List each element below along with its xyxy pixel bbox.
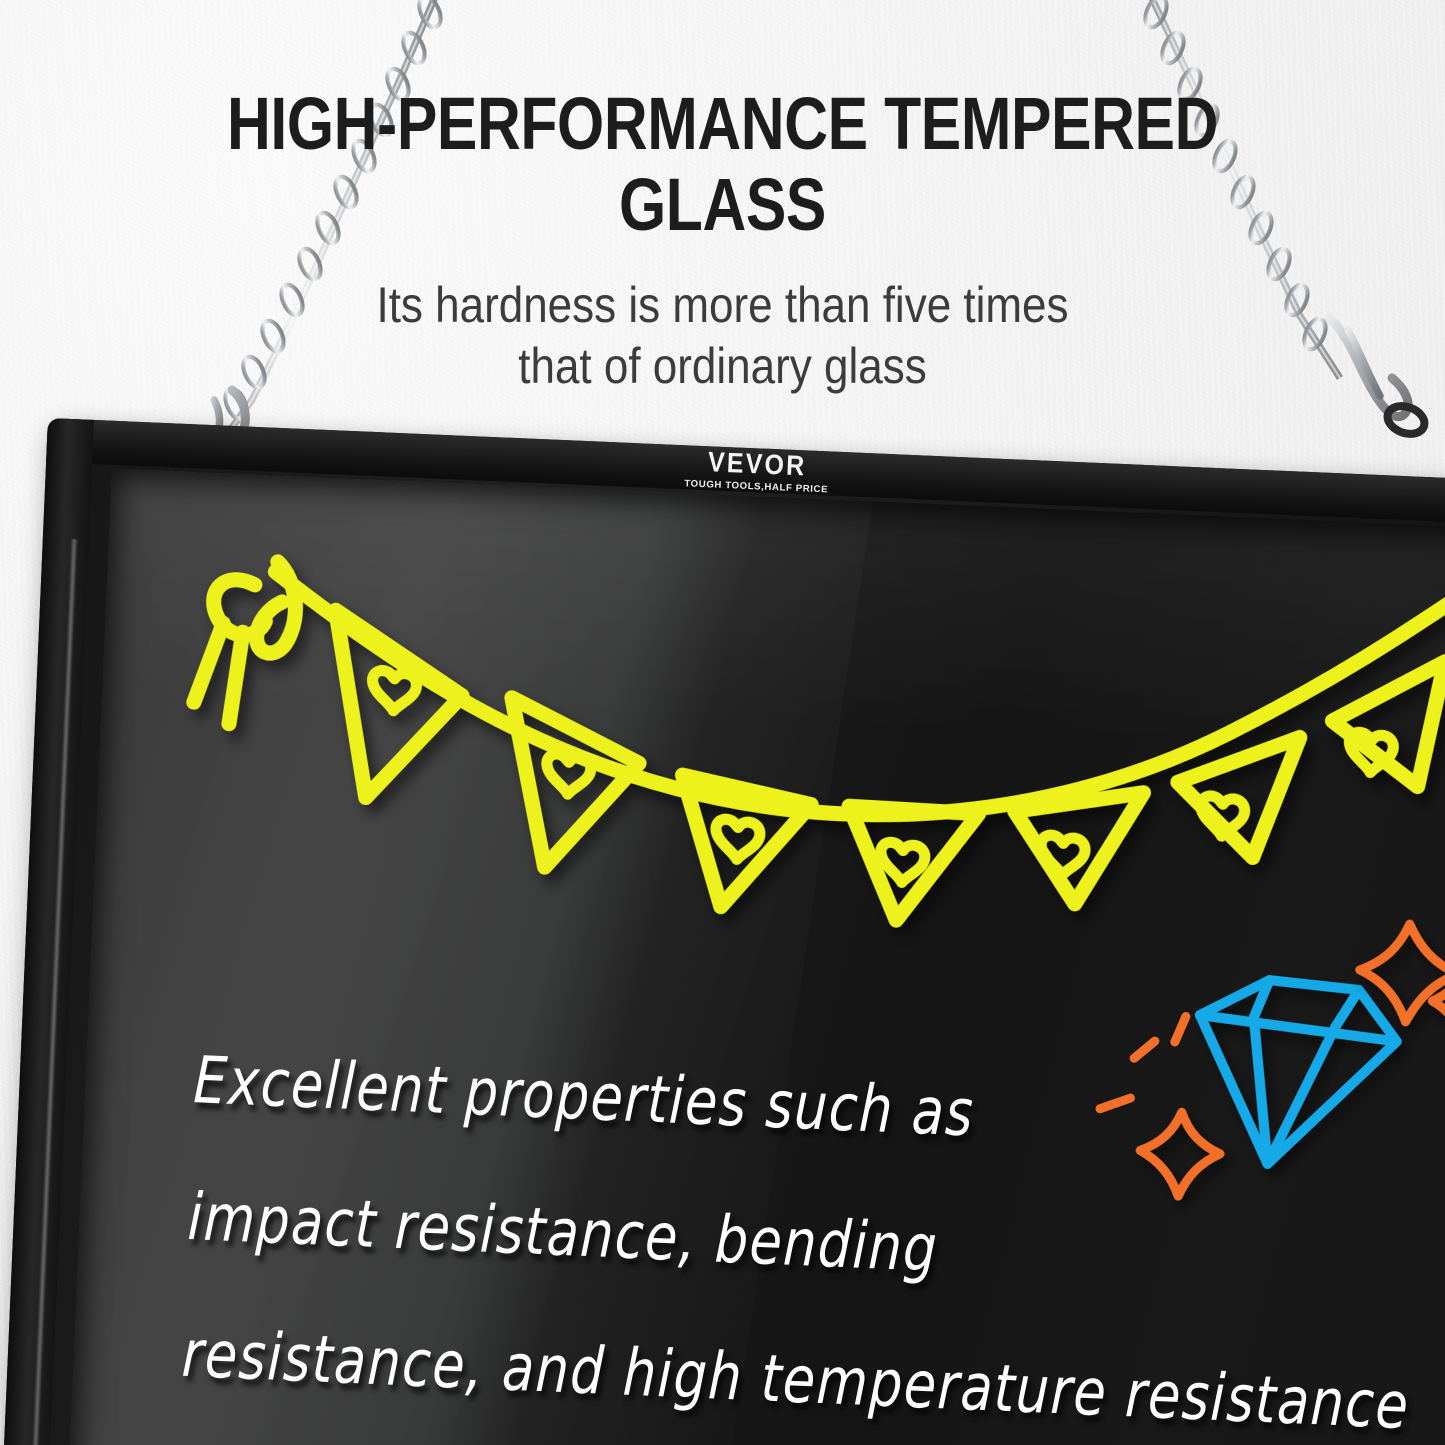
tempered-glass-surface: Excellent properties such as impact resi… (66, 469, 1445, 1445)
subheadline-block: Its hardness is more than five times tha… (0, 275, 1445, 397)
vevor-wordmark: VEVOR (686, 448, 828, 482)
vevor-logo: VEVOR TOUGH TOOLS,HALF PRICE (686, 449, 829, 495)
headline-line-2: GLASS (130, 169, 1315, 242)
headline-block: HIGH-PERFORMANCE TEMPERED GLASS Its hard… (0, 88, 1445, 397)
subheadline-line-2: that of ordinary glass (87, 336, 1359, 397)
headline-line-1: HIGH-PERFORMANCE TEMPERED (130, 88, 1315, 161)
subheadline-line-1: Its hardness is more than five times (87, 275, 1359, 336)
chalk-message: Excellent properties such as impact resi… (179, 1013, 1417, 1445)
chalkboard-product: VEVOR TOUGH TOOLS,HALF PRICE (0, 418, 1445, 1445)
